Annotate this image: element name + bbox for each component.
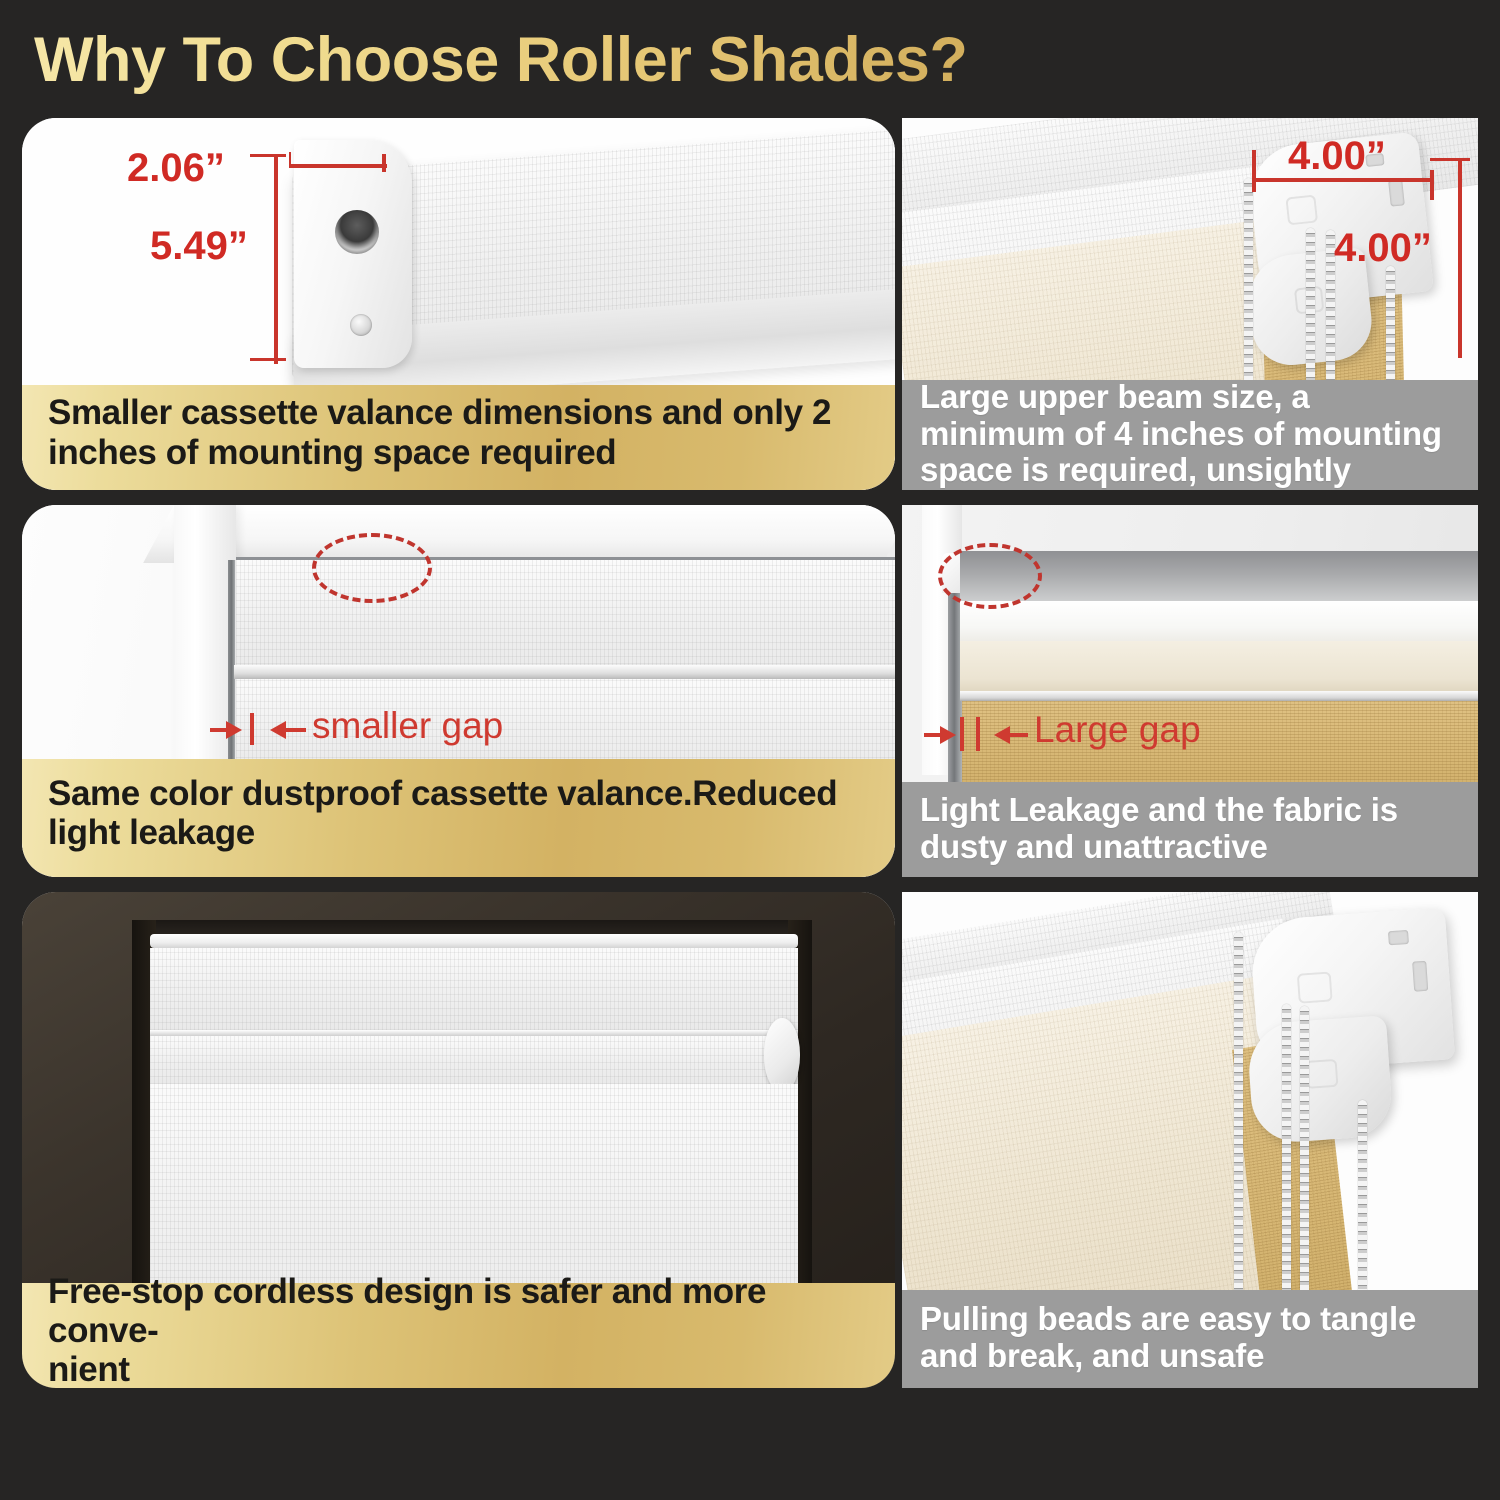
dimension-label-height: 4.00” — [1334, 226, 1432, 271]
dimension-label-height: 5.49” — [150, 224, 248, 269]
panel-pro-cordless: Free-stop cordless design is safer and m… — [22, 892, 895, 1388]
cassette-valance — [150, 948, 798, 1030]
dim-tick — [1430, 158, 1470, 161]
cassette-roller-hole — [335, 210, 379, 254]
dim-tick — [250, 154, 286, 157]
highlight-ellipse-seam — [938, 543, 1042, 609]
caption-bar-con-beam-size: Large upper beam size, a minimum of 4 in… — [902, 380, 1478, 490]
dim-line-height — [274, 154, 278, 364]
dim-tick — [1252, 150, 1256, 192]
cassette-end-cap — [294, 140, 412, 368]
dim-tick — [1430, 170, 1434, 200]
panel-con-beam-size: 4.00” 4.00” Large upper beam size, a min… — [902, 118, 1478, 490]
caption-bar-con-light-leakage: Light Leakage and the fabric is dusty an… — [902, 782, 1478, 877]
roller-front — [150, 1036, 798, 1084]
page-title: Why To Choose Roller Shades? — [34, 20, 1334, 100]
gap-callout-label: Large gap — [1034, 709, 1201, 751]
dim-line-height — [1458, 158, 1462, 358]
dim-tick — [382, 154, 386, 172]
valance-rail — [960, 691, 1478, 701]
caption-bar-con-pull-beads: Pulling beads are easy to tangle and bre… — [902, 1290, 1478, 1388]
valance-top-edge — [150, 934, 798, 948]
dim-line-width — [289, 164, 387, 168]
bead-chain — [1234, 932, 1243, 1332]
cream-fabric — [960, 641, 1478, 695]
roller-end-cap — [764, 1018, 800, 1092]
valance-rail — [234, 665, 895, 679]
panel-pro-light-leakage: smaller gap Same color dustproof cassett… — [22, 505, 895, 877]
window-head-frame — [143, 505, 895, 563]
caption-text: Light Leakage and the fabric is dusty an… — [920, 792, 1398, 866]
infographic-page: Why To Choose Roller Shades? 2.06” 5.49”… — [0, 0, 1500, 1500]
highlight-ellipse-seam — [312, 533, 432, 603]
caption-text: Large upper beam size, a minimum of 4 in… — [920, 379, 1442, 490]
caption-text: Pulling beads are easy to tangle and bre… — [920, 1301, 1416, 1375]
caption-bar-pro-cordless: Free-stop cordless design is safer and m… — [22, 1283, 895, 1388]
panel-con-pull-beads: Pulling beads are easy to tangle and bre… — [902, 892, 1478, 1388]
gap-callout-label: smaller gap — [312, 705, 503, 747]
mounting-bracket-lower — [1246, 1015, 1394, 1144]
bead-chain — [1282, 1004, 1291, 1334]
dim-tick — [250, 358, 286, 361]
panel-con-light-leakage: Large gap Light Leakage and the fabric i… — [902, 505, 1478, 877]
caption-bar-pro-cassette-size: Smaller cassette valance dimensions and … — [22, 385, 895, 490]
dimension-label-width: 2.06” — [127, 146, 225, 191]
caption-text: Same color dustproof cassette valance.Re… — [48, 774, 837, 852]
caption-bar-pro-light-leakage: Same color dustproof cassette valance.Re… — [22, 759, 895, 877]
caption-text: Free-stop cordless design is safer and m… — [48, 1272, 869, 1388]
caption-text: Smaller cassette valance dimensions and … — [48, 393, 831, 471]
dimension-label-width: 4.00” — [1288, 134, 1386, 179]
white-fabric — [960, 601, 1478, 645]
panel-pro-cassette-size: 2.06” 5.49” Smaller cassette valance dim… — [22, 118, 895, 490]
cassette-screw — [350, 314, 372, 336]
bead-chain — [1300, 1006, 1309, 1334]
